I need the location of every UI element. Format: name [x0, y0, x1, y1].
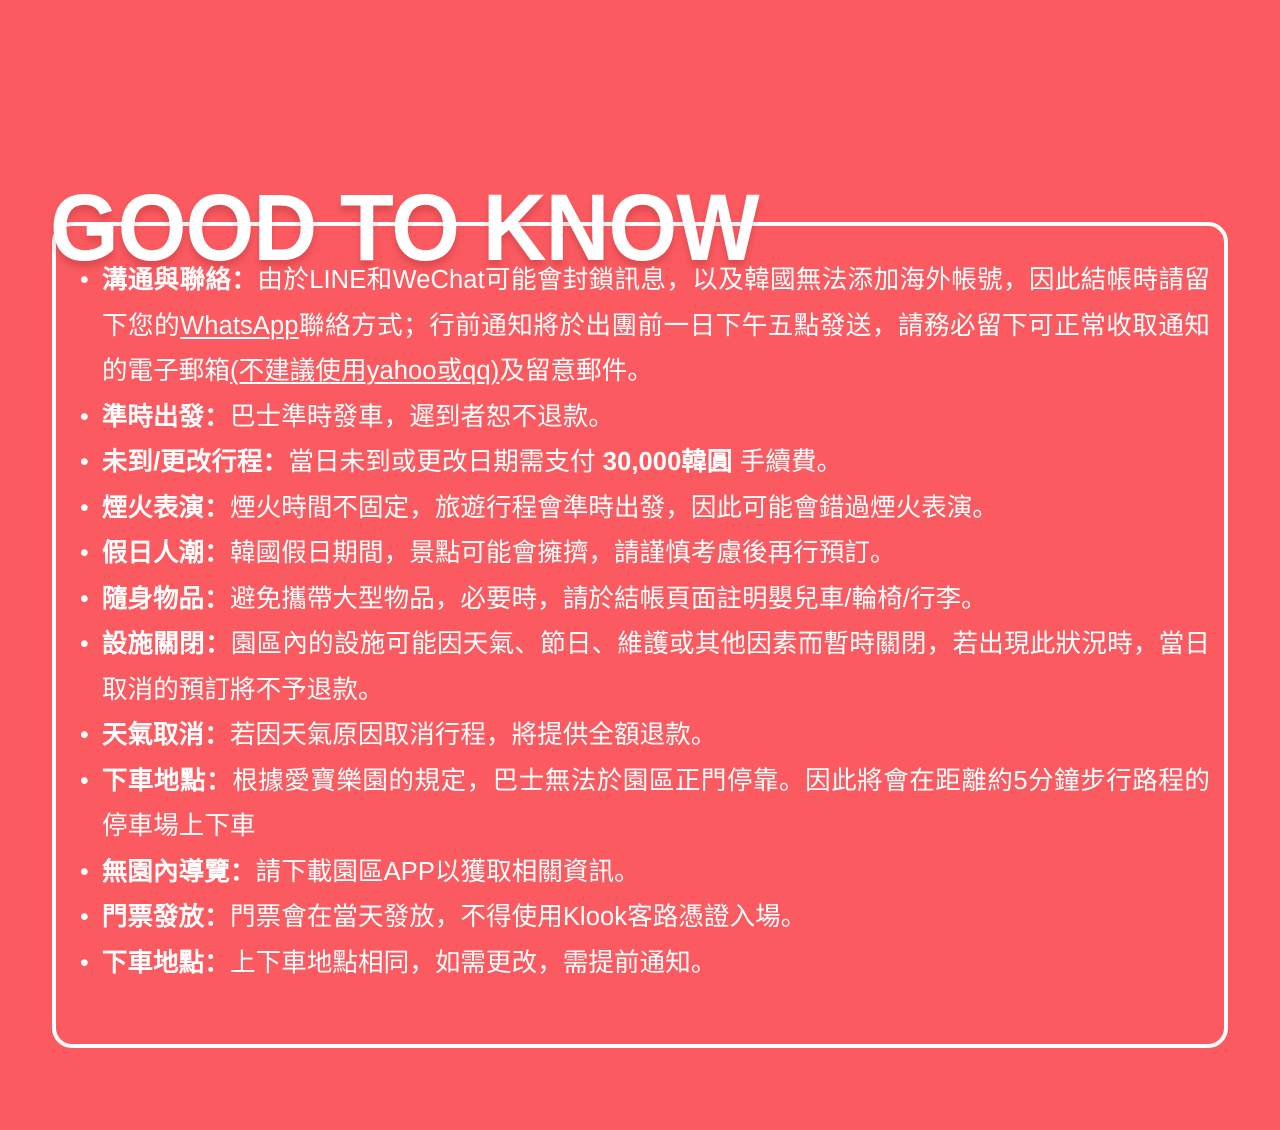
emphasis-underline: (不建議使用yahoo或qq) — [230, 357, 499, 385]
list-item-label: 設施關閉： — [102, 630, 231, 658]
list-item-label: 準時出發： — [102, 403, 230, 431]
list-item-body: 門票發放：門票會在當天發放，不得使用Klook客路憑證入場。 — [102, 895, 1210, 941]
list-item-label: 隨身物品： — [102, 585, 230, 613]
list-item-text: 門票會在當天發放，不得使用Klook客路憑證入場。 — [230, 903, 806, 931]
list-item-body: 天氣取消：若因天氣原因取消行程，將提供全額退款。 — [102, 713, 1210, 759]
list-item-text: 當日未到或更改日期需支付 — [288, 448, 602, 476]
list-item-text: 及留意郵件。 — [499, 357, 653, 385]
list-item-body: 未到/更改行程：當日未到或更改日期需支付 30,000韓圓 手續費。 — [102, 440, 1210, 486]
list-item-label: 門票發放： — [102, 903, 230, 931]
list-item: •煙火表演：煙火時間不固定，旅遊行程會準時出發，因此可能會錯過煙火表演。 — [80, 486, 1210, 532]
list-item-body: 煙火表演：煙火時間不固定，旅遊行程會準時出發，因此可能會錯過煙火表演。 — [102, 486, 1210, 532]
bullet-dot-icon: • — [80, 577, 102, 623]
bullet-dot-icon: • — [80, 486, 102, 532]
list-item: •準時出發：巴士準時發車，遲到者恕不退款。 — [80, 395, 1210, 441]
emphasis-underline: WhatsApp — [180, 312, 298, 340]
list-item: •天氣取消：若因天氣原因取消行程，將提供全額退款。 — [80, 713, 1210, 759]
bullet-dot-icon: • — [80, 440, 102, 486]
list-item-text: 園區內的設施可能因天氣、節日、維護或其他因素而暫時關閉，若出現此狀況時，當日取消… — [102, 630, 1210, 704]
bullet-dot-icon: • — [80, 941, 102, 987]
list-item-text: 請下載園區APP以獲取相關資訊。 — [256, 858, 640, 886]
list-item: •下車地點：根據愛寶樂園的規定，巴士無法於園區正門停靠。因此將會在距離約5分鐘步… — [80, 759, 1210, 850]
list-item-body: 假日人潮：韓國假日期間，景點可能會擁擠，請謹慎考慮後再行預訂。 — [102, 531, 1210, 577]
list-item-text: 手續費。 — [733, 448, 843, 476]
bullet-dot-icon: • — [80, 759, 102, 805]
list-item-text: 巴士準時發車，遲到者恕不退款。 — [230, 403, 614, 431]
list-item: •下車地點：上下車地點相同，如需更改，需提前通知。 — [80, 941, 1210, 987]
bullet-dot-icon: • — [80, 895, 102, 941]
list-item-text: 韓國假日期間，景點可能會擁擠，請謹慎考慮後再行預訂。 — [230, 539, 896, 567]
list-item-body: 下車地點：根據愛寶樂園的規定，巴士無法於園區正門停靠。因此將會在距離約5分鐘步行… — [102, 759, 1210, 850]
list-item-label: 下車地點： — [102, 767, 232, 795]
list-item-label: 天氣取消： — [102, 721, 230, 749]
bullet-dot-icon: • — [80, 713, 102, 759]
list-item-label: 無園內導覽： — [102, 858, 256, 886]
list-item-body: 設施關閉：園區內的設施可能因天氣、節日、維護或其他因素而暫時關閉，若出現此狀況時… — [102, 622, 1210, 713]
list-item-text: 煙火時間不固定，旅遊行程會準時出發，因此可能會錯過煙火表演。 — [230, 494, 998, 522]
list-item-body: 無園內導覽：請下載園區APP以獲取相關資訊。 — [102, 850, 1210, 896]
emphasis-bold: 30,000韓圓 — [603, 448, 733, 476]
list-item-text: 上下車地點相同，如需更改，需提前通知。 — [230, 949, 716, 977]
list-item: •無園內導覽：請下載園區APP以獲取相關資訊。 — [80, 850, 1210, 896]
list-item-body: 隨身物品：避免攜帶大型物品，必要時，請於結帳頁面註明嬰兒車/輪椅/行李。 — [102, 577, 1210, 623]
bullet-dot-icon: • — [80, 622, 102, 668]
list-item-label: 下車地點： — [102, 949, 230, 977]
list-item-label: 未到/更改行程： — [102, 448, 288, 476]
list-item-text: 根據愛寶樂園的規定，巴士無法於園區正門停靠。因此將會在距離約5分鐘步行路程的停車… — [102, 767, 1210, 841]
bullet-dot-icon: • — [80, 531, 102, 577]
list-item: •門票發放：門票會在當天發放，不得使用Klook客路憑證入場。 — [80, 895, 1210, 941]
bullet-dot-icon: • — [80, 850, 102, 896]
list-item-text: 避免攜帶大型物品，必要時，請於結帳頁面註明嬰兒車/輪椅/行李。 — [230, 585, 987, 613]
list-item: •未到/更改行程：當日未到或更改日期需支付 30,000韓圓 手續費。 — [80, 440, 1210, 486]
list-item: •假日人潮：韓國假日期間，景點可能會擁擠，請謹慎考慮後再行預訂。 — [80, 531, 1210, 577]
list-item-label: 假日人潮： — [102, 539, 230, 567]
list-item: •設施關閉：園區內的設施可能因天氣、節日、維護或其他因素而暫時關閉，若出現此狀況… — [80, 622, 1210, 713]
list-item-body: 準時出發：巴士準時發車，遲到者恕不退款。 — [102, 395, 1210, 441]
good-to-know-poster: GOOD TO KNOW •溝通與聯絡：由於LINE和WeChat可能會封鎖訊息… — [0, 0, 1280, 1130]
bullet-dot-icon: • — [80, 395, 102, 441]
list-item: •隨身物品：避免攜帶大型物品，必要時，請於結帳頁面註明嬰兒車/輪椅/行李。 — [80, 577, 1210, 623]
list-item-label: 煙火表演： — [102, 494, 230, 522]
list-item-body: 下車地點：上下車地點相同，如需更改，需提前通知。 — [102, 941, 1210, 987]
notes-list: •溝通與聯絡：由於LINE和WeChat可能會封鎖訊息，以及韓國無法添加海外帳號… — [80, 258, 1210, 986]
page-title: GOOD TO KNOW — [50, 180, 759, 276]
list-item-text: 若因天氣原因取消行程，將提供全額退款。 — [230, 721, 716, 749]
